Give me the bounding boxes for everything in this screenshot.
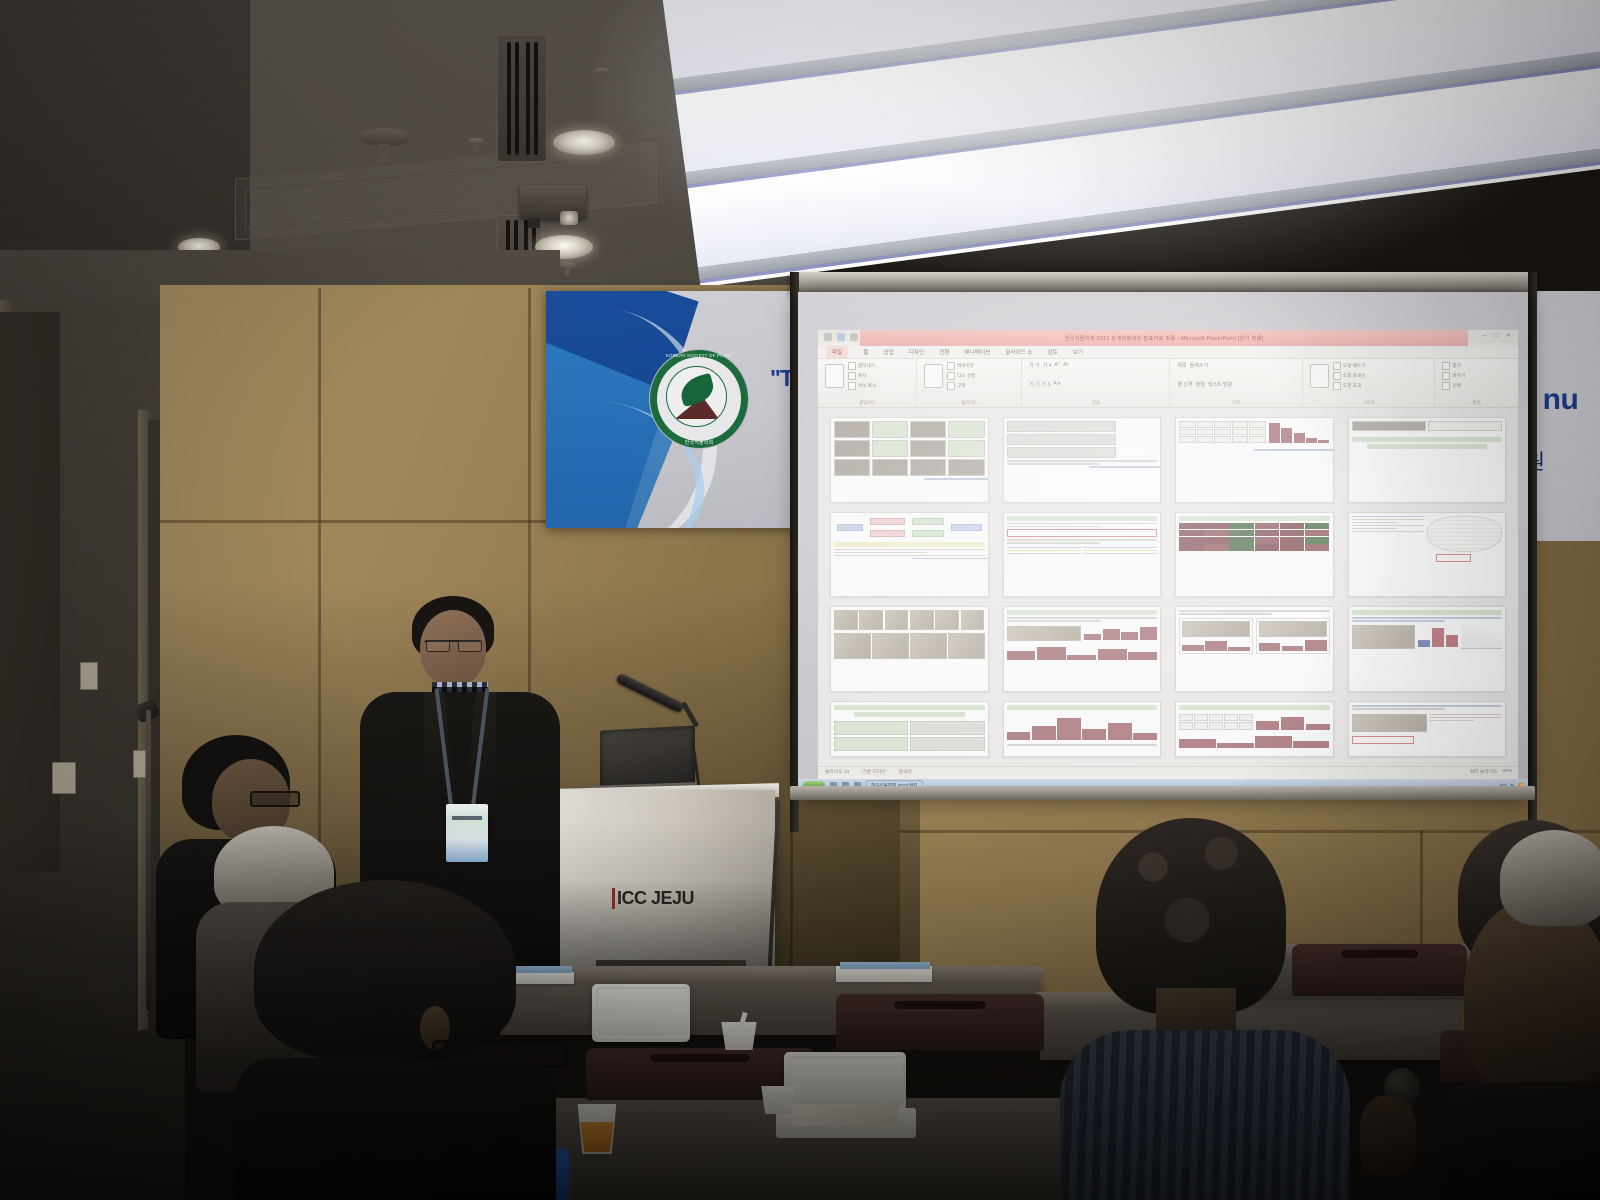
status-language: 한국어 [899, 768, 912, 775]
tab-slideshow[interactable]: 슬라이드 쇼 [1005, 348, 1032, 356]
emblem-leaf-icon [677, 373, 717, 407]
tab-review[interactable]: 검토 [1048, 348, 1058, 356]
slide-sorter-view[interactable]: 21 22 23 [818, 408, 1518, 766]
ribbon-group-label: 글꼴 [1029, 400, 1162, 407]
presenter-glasses-lens [426, 640, 450, 652]
attendee-hand [1360, 1096, 1416, 1176]
format-painter-button[interactable]: 서식 복사 [848, 382, 876, 390]
slide-thumbnail[interactable]: 25 [830, 512, 989, 598]
heatmap-figure [1179, 523, 1330, 551]
slide-thumbnail[interactable]: 23 [1175, 417, 1334, 503]
attendee-body [1440, 1082, 1600, 1200]
slide-thumbnail[interactable]: 33 [830, 701, 989, 757]
paragraph-row2[interactable]: 줄 간격 정렬 텍스트 방향 [1177, 381, 1295, 388]
slide-thumbnail[interactable]: 28 [1348, 512, 1507, 598]
ribbon-group-drawing: 도형 채우기 도형 윤곽선 도형 효과 그리기 [1303, 359, 1436, 407]
status-theme: '기본 디자인' [861, 768, 886, 775]
indent-icon[interactable]: 들여쓰기 [1190, 362, 1208, 369]
ribbon-group-clipboard: 잘라내기 복사 서식 복사 클립보드 [818, 359, 917, 407]
tab-design[interactable]: 디자인 [909, 348, 924, 356]
attendee-hair [1500, 830, 1600, 926]
light-switch[interactable] [80, 662, 98, 690]
door-left[interactable] [0, 312, 60, 872]
attendee-hair [254, 880, 516, 1060]
sprinkler-head [468, 138, 484, 145]
attendee-far-right [1500, 830, 1600, 1030]
bullet-list-icon[interactable]: 목록 [1177, 362, 1186, 369]
tab-view[interactable]: 보기 [1073, 348, 1083, 356]
venue-plaque: ICC JEJU [612, 888, 690, 912]
handout-papers[interactable] [840, 962, 930, 969]
shape-outline-button[interactable]: 도형 윤곽선 [1333, 372, 1365, 380]
attendee-curly-hair [1096, 818, 1286, 1014]
ribbon-group-label: 슬라이드 [924, 400, 1014, 407]
emblem-top-text: KOREAN SOCIETY OF PLANT BIOLOGISTS [657, 353, 741, 363]
lunch-box-lid [596, 987, 690, 1037]
attendee-body-striped [1060, 1030, 1350, 1200]
undo-icon[interactable] [837, 333, 845, 341]
font-controls-row2[interactable]: 기 기 기 S A ▾ [1029, 381, 1162, 388]
cup-beverage [578, 1122, 616, 1152]
venue-name: ICC JEJU [617, 888, 694, 909]
tab-insert[interactable]: 삽입 [883, 348, 893, 356]
line-spacing-icon[interactable]: 줄 간격 [1177, 381, 1192, 388]
font-shrink-icon[interactable]: A˅ [1063, 362, 1069, 369]
microphone-stand [146, 710, 151, 1010]
ribbon-group-label: 단락 [1177, 400, 1295, 407]
font-family-select[interactable]: 가 가 [1029, 362, 1040, 369]
tab-file[interactable]: 파일 [826, 346, 848, 358]
slide-thumbnail[interactable]: 30 [1003, 606, 1162, 692]
emblem-bottom-text: 한국식물학회 [657, 439, 741, 446]
emblem-year: 1937 [667, 411, 726, 417]
ribbon-group-editing: 찾기 바꾸기 선택 편집 [1435, 359, 1518, 407]
slide-thumbnail[interactable]: 21 [830, 417, 989, 503]
cut-button[interactable]: 잘라내기 [848, 362, 876, 370]
projection-screen-housing [790, 272, 1535, 294]
presenter-badge [446, 804, 488, 862]
hvac-vent [497, 35, 547, 162]
ceiling-speaker [358, 128, 412, 146]
font-color-icon[interactable]: A ▾ [1054, 381, 1061, 388]
font-size-select[interactable]: 가 ▾ [1043, 362, 1052, 369]
section-button[interactable]: 구역 [947, 382, 975, 390]
attendee-seated-curly [1060, 818, 1350, 1200]
paragraph-row1[interactable]: 목록 들여쓰기 [1177, 362, 1295, 369]
font-grow-icon[interactable]: A^ [1054, 362, 1060, 369]
slide-thumbnail[interactable]: 26 [1003, 512, 1162, 598]
ribbon-group-label: 그리기 [1310, 400, 1428, 407]
ceiling-downlight [553, 130, 615, 155]
sprinkler-head [593, 68, 609, 75]
view-mode-label[interactable]: 여러 슬라이드 [1470, 768, 1498, 775]
ribbon-group-label: 클립보드 [825, 400, 909, 407]
flow-diagram [834, 516, 985, 542]
save-icon[interactable] [824, 333, 832, 341]
align-icon[interactable]: 정렬 [1196, 381, 1205, 388]
powerpoint-status-bar: 슬라이드 33 '기본 디자인' 한국어 여러 슬라이드 66% [818, 766, 1518, 776]
styrofoam-lunch-box[interactable] [592, 984, 690, 1042]
zoom-level[interactable]: 66% [1502, 769, 1512, 774]
projection-screen: 한국식물학회 2013 춘계학술대회 발표자료 최종 - Microsoft P… [798, 292, 1528, 792]
tab-transitions[interactable]: 전환 [939, 348, 949, 356]
select-button[interactable]: 선택 [1442, 382, 1511, 390]
sprinkler-head [560, 262, 576, 269]
wall-outlet[interactable] [133, 750, 146, 778]
ceiling-projector [520, 185, 586, 219]
attendee-body [236, 1058, 556, 1200]
font-controls-row1[interactable]: 가 가 가 ▾ A^ A˅ [1029, 362, 1162, 369]
slide-thumbnail[interactable]: 32 [1348, 606, 1507, 692]
replace-button[interactable]: 바꾸기 [1442, 372, 1511, 380]
ribbon-group-paragraph: 목록 들여쓰기 줄 간격 정렬 텍스트 방향 단락 [1170, 359, 1303, 407]
slide-thumbnail[interactable]: 27 [1175, 512, 1334, 598]
attendee-seated-front [236, 880, 556, 1200]
layout-button[interactable]: 레이아웃 [947, 362, 975, 370]
screen-edge-right [1528, 272, 1537, 832]
slide-thumbnail[interactable]: 36 [1348, 701, 1507, 757]
ribbon[interactable]: 잘라내기 복사 서식 복사 클립보드 레이아웃 다시 설정 구역 [818, 359, 1518, 408]
shape-effects-button[interactable]: 도형 효과 [1333, 382, 1365, 390]
wall-outlet[interactable] [52, 762, 76, 794]
tab-animations[interactable]: 애니메이션 [965, 348, 991, 356]
shape-fill-button[interactable]: 도형 채우기 [1333, 362, 1365, 370]
ribbon-group-font: 가 가 가 ▾ A^ A˅ 기 기 기 S A ▾ 글꼴 [1022, 359, 1170, 407]
new-slide-icon[interactable] [924, 364, 943, 388]
reset-button[interactable]: 다시 설정 [947, 372, 975, 380]
tab-home[interactable]: 홈 [863, 348, 868, 356]
slide-thumbnail[interactable]: 22 [1003, 417, 1162, 503]
table-surface [498, 966, 1043, 980]
ribbon-group-label: 편집 [1442, 400, 1511, 407]
redo-icon[interactable] [850, 333, 858, 341]
lunch-box-contents [792, 1104, 898, 1126]
projector-lens [560, 211, 578, 225]
copy-button[interactable]: 복사 [848, 372, 876, 380]
find-button[interactable]: 찾기 [1442, 362, 1511, 370]
shapes-gallery-icon[interactable] [1310, 364, 1329, 388]
conference-banner: KOREAN SOCIETY OF PLANT BIOLOGISTS 1937 … [546, 291, 798, 528]
ribbon-group-slides: 레이아웃 다시 설정 구역 슬라이드 [917, 359, 1022, 407]
paste-icon[interactable] [825, 364, 844, 388]
presenter-badge-name [452, 816, 482, 820]
projection-screen-weight-bar [790, 786, 1535, 800]
powerpoint-window: 한국식물학회 2013 춘계학술대회 발표자료 최종 - Microsoft P… [818, 330, 1518, 780]
plaque-accent-bar [612, 888, 615, 909]
powerpoint-title-bar: 한국식물학회 2013 춘계학술대회 발표자료 최종 - Microsoft P… [860, 330, 1468, 346]
lunch-box-lid [789, 1056, 905, 1110]
attendee-glasses [250, 791, 300, 807]
presenter-glasses-lens [458, 640, 482, 652]
slide-thumbnail[interactable]: 24 [1348, 417, 1507, 503]
emblem-inner-circle: 1937 [666, 366, 727, 427]
ribbon-tab-bar[interactable]: 파일 홈 삽입 디자인 전환 애니메이션 슬라이드 쇼 검토 보기 [818, 346, 1518, 359]
ceiling-light-bank [660, 0, 1600, 287]
slide-thumbnail[interactable]: 34 [1003, 701, 1162, 757]
status-slide-info: 슬라이드 33 [825, 768, 849, 775]
text-direction-icon[interactable]: 텍스트 방향 [1208, 381, 1232, 388]
window-controls[interactable]: ─ □ ✕ [1483, 332, 1514, 339]
bold-italic-underline[interactable]: 기 기 기 S [1029, 381, 1050, 388]
slide-thumbnail[interactable]: 31 [1175, 606, 1334, 692]
slide-thumbnail[interactable]: 35 [1175, 701, 1334, 757]
conference-room-photo: KOREAN SOCIETY OF PLANT BIOLOGISTS 1937 … [0, 0, 1600, 1200]
kspb-emblem: KOREAN SOCIETY OF PLANT BIOLOGISTS 1937 … [650, 350, 748, 448]
stacking-chair[interactable] [836, 994, 1044, 1050]
slide-thumbnail[interactable]: 29 [830, 606, 989, 692]
